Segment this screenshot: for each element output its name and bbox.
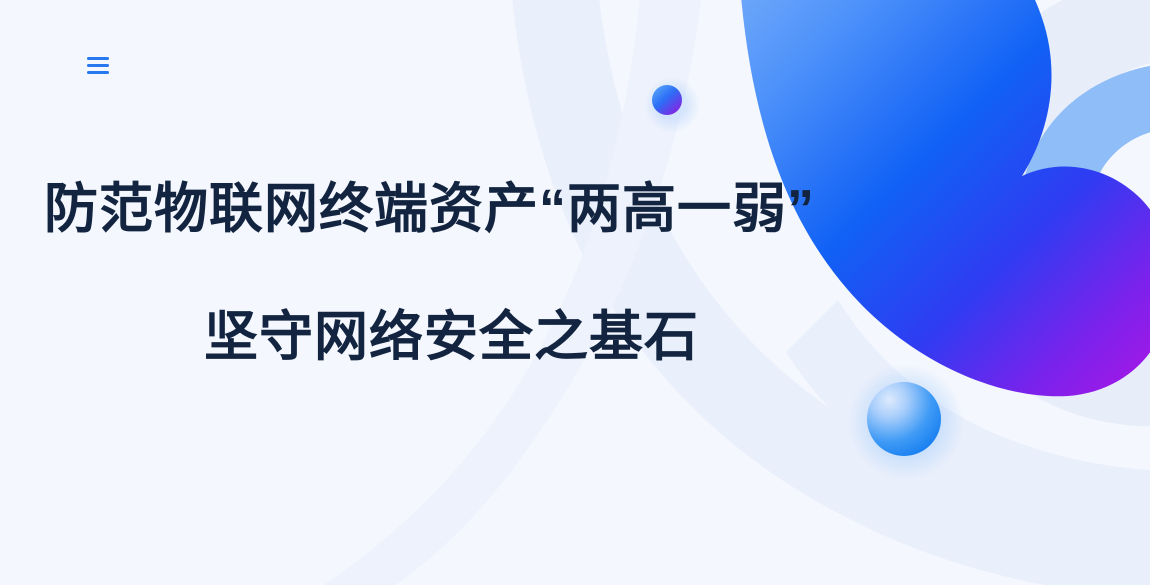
hamburger-menu-icon-bar-3 — [87, 71, 109, 74]
top-bar — [0, 0, 1150, 130]
title-block: 防范物联网终端资产“两高一弱” 坚守网络安全之基石 — [0, 178, 880, 369]
large-blue-sphere-glow — [848, 364, 964, 480]
hamburger-menu-icon-bar-2 — [87, 64, 109, 67]
hamburger-menu-button[interactable] — [80, 48, 118, 82]
page-title-line-1: 防范物联网终端资产“两高一弱” — [44, 178, 880, 242]
page-title-line-2: 坚守网络安全之基石 — [204, 306, 880, 370]
hamburger-menu-icon-bar-1 — [87, 57, 109, 60]
large-blue-sphere — [867, 382, 941, 456]
slide-canvas: 防范物联网终端资产“两高一弱” 坚守网络安全之基石 — [0, 0, 1150, 585]
